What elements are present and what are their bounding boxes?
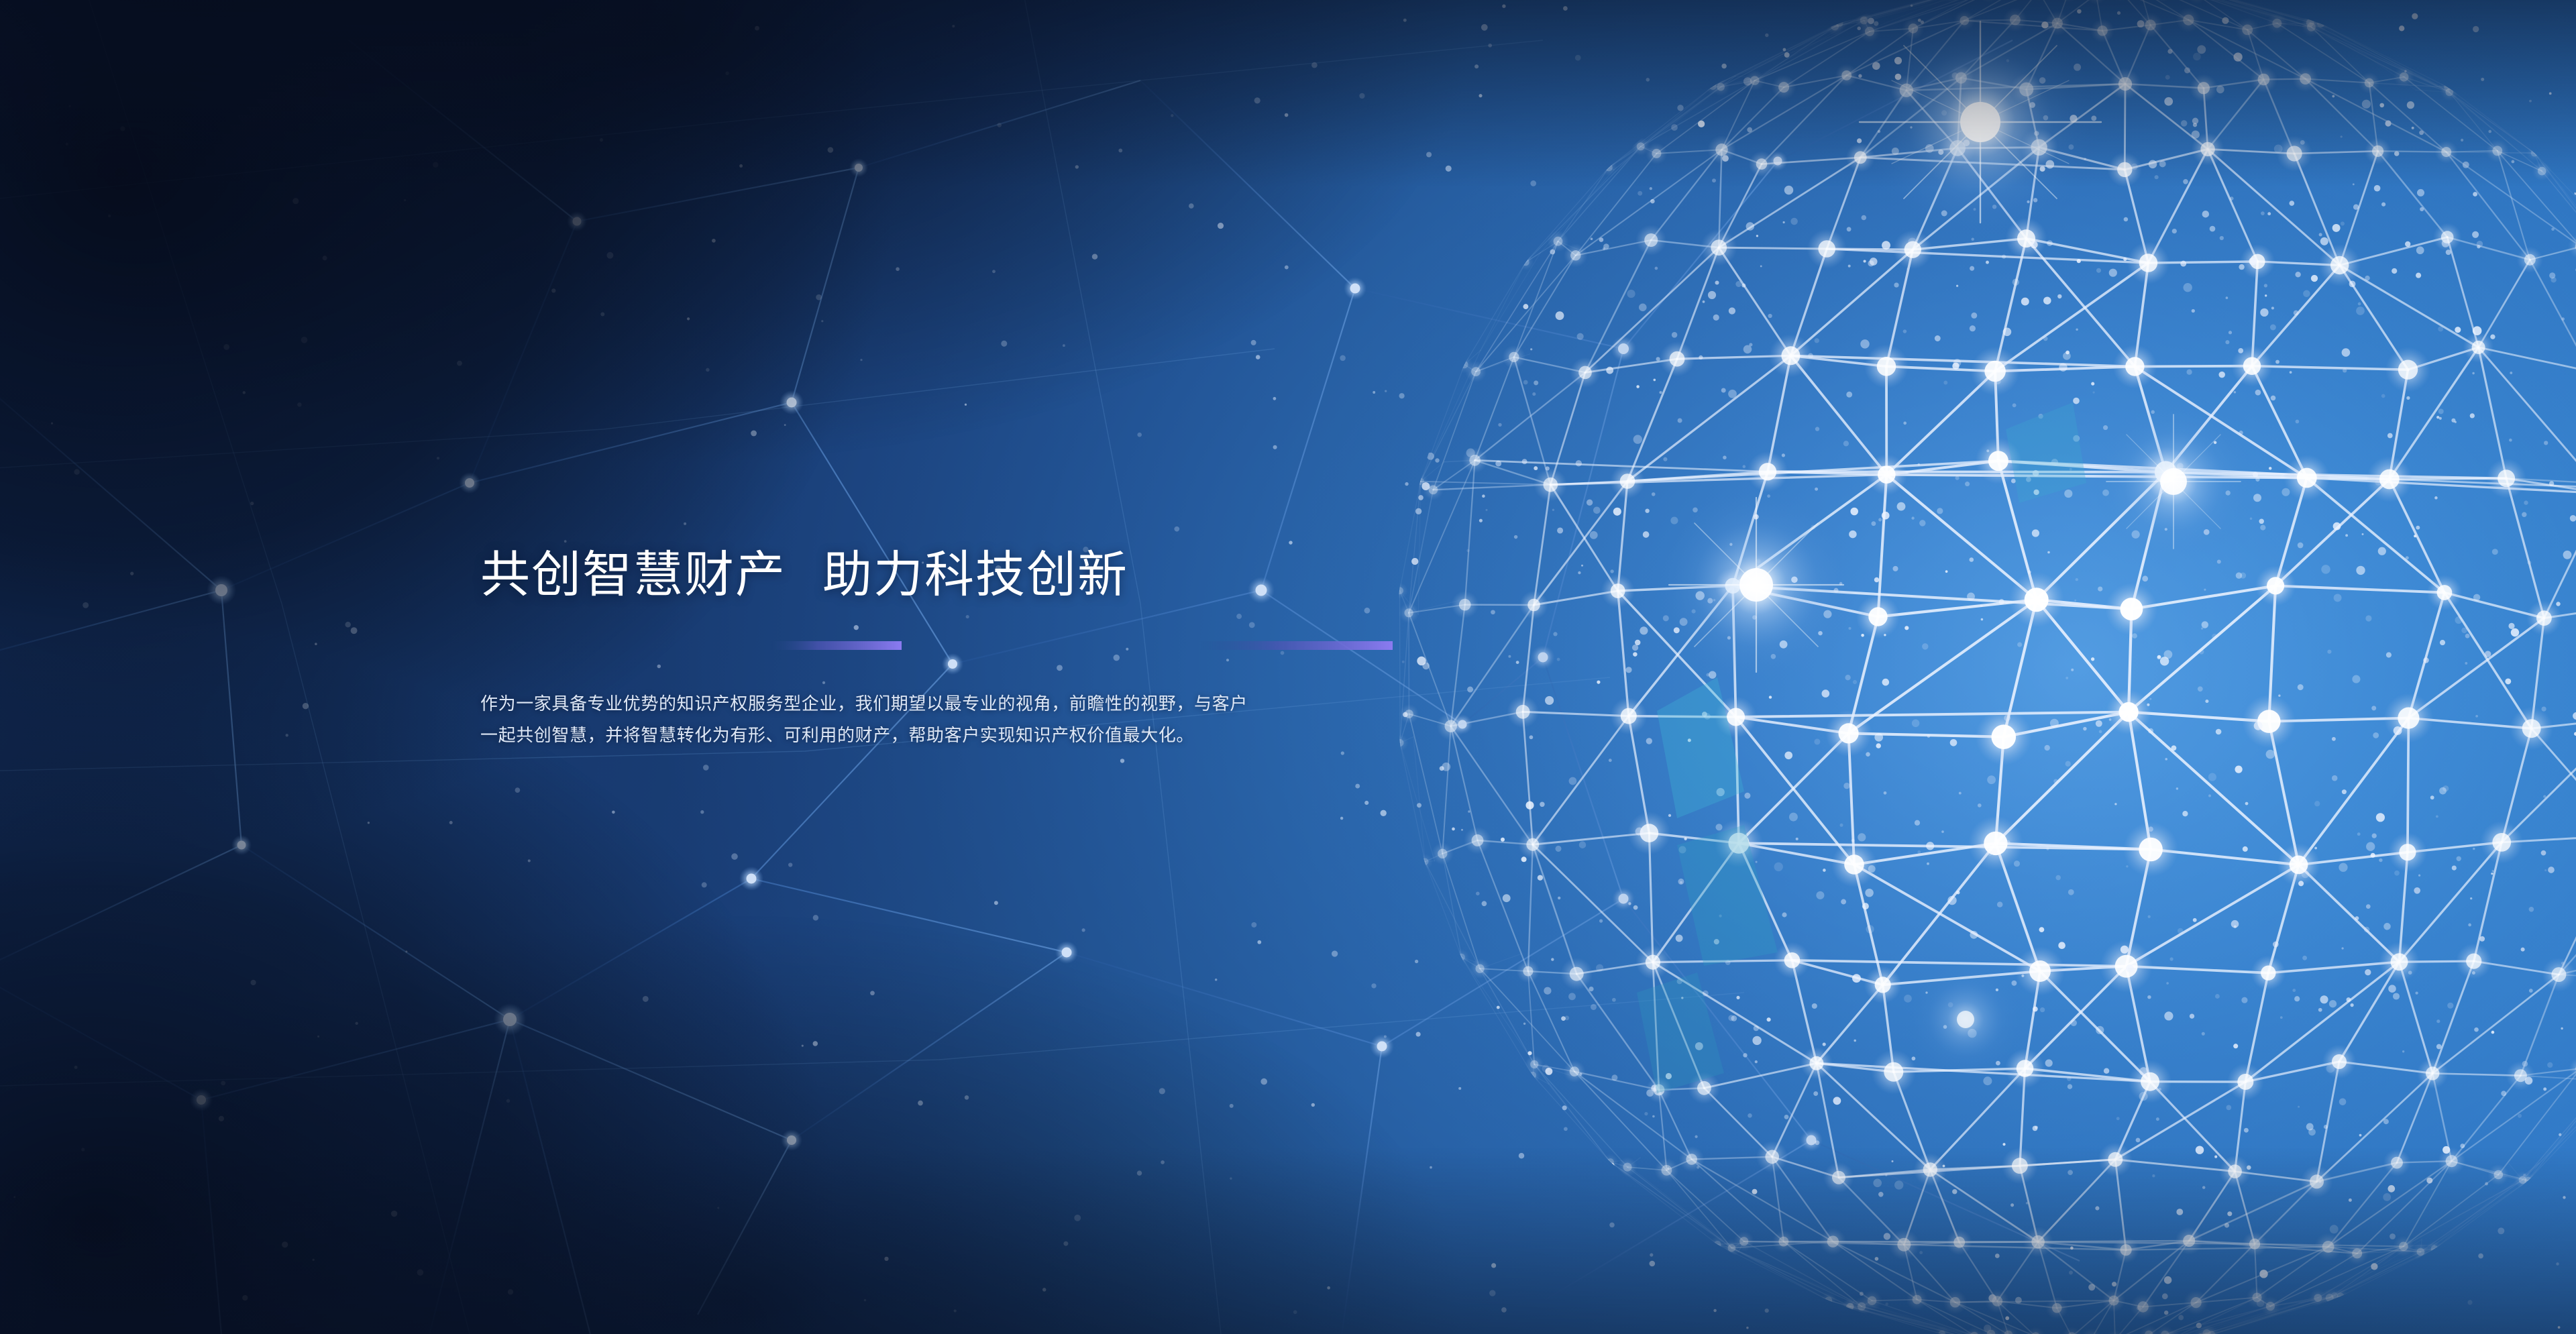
hero-text-block: 共创智慧财产助力科技创新 作为一家具备专业优势的知识产权服 — [480, 550, 1433, 600]
headline-accent-bar-2 — [1201, 641, 1393, 650]
headline-part-2: 助力科技创新 — [822, 547, 1128, 602]
headline-part-1: 共创智慧财产 — [480, 547, 786, 602]
network-globe — [0, 0, 2576, 1334]
headline-accent-bar-1 — [771, 641, 902, 650]
page-title: 共创智慧财产助力科技创新 — [480, 550, 1433, 600]
hero-banner: 共创智慧财产助力科技创新 作为一家具备专业优势的知识产权服 — [0, 0, 2576, 1334]
hero-description: 作为一家具备专业优势的知识产权服务型企业，我们期望以最专业的视角，前瞻性的视野，… — [480, 688, 1258, 751]
